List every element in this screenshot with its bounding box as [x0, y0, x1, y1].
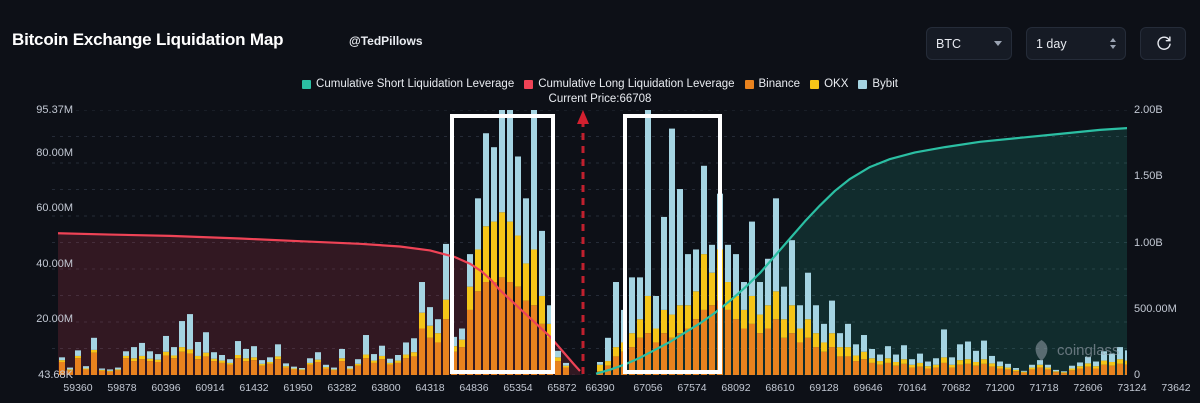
bar-segment-binance[interactable] [467, 310, 473, 375]
bar-segment-binance[interactable] [211, 361, 217, 375]
bar-segment-okx[interactable] [693, 291, 699, 319]
bar-segment-binance[interactable] [997, 368, 1003, 375]
bar-segment-okx[interactable] [845, 347, 851, 356]
bar-segment-bybit[interactable] [299, 368, 305, 369]
bar-segment-bybit[interactable] [893, 355, 899, 362]
bar-segment-bybit[interactable] [829, 301, 835, 334]
bar-segment-binance[interactable] [187, 354, 193, 375]
bar-segment-binance[interactable] [1029, 369, 1035, 375]
bar-segment-okx[interactable] [227, 363, 233, 365]
bar-segment-okx[interactable] [933, 365, 939, 368]
bar-segment-binance[interactable] [203, 356, 209, 375]
bar-segment-bybit[interactable] [99, 368, 105, 369]
bar-segment-bybit[interactable] [307, 358, 313, 363]
bar-segment-okx[interactable] [499, 212, 505, 277]
bar-segment-binance[interactable] [781, 338, 787, 375]
bar-segment-binance[interactable] [75, 358, 81, 375]
bar-segment-okx[interactable] [251, 357, 257, 360]
bar-segment-bybit[interactable] [211, 352, 217, 359]
bar-segment-binance[interactable] [909, 368, 915, 375]
bar-segment-okx[interactable] [781, 319, 787, 338]
bar-segment-okx[interactable] [733, 296, 739, 319]
bar-segment-bybit[interactable] [781, 287, 787, 320]
bar-segment-binance[interactable] [243, 361, 249, 375]
bar-segment-binance[interactable] [155, 362, 161, 375]
bar-segment-bybit[interactable] [443, 244, 449, 300]
bar-segment-okx[interactable] [187, 349, 193, 353]
bar-segment-bybit[interactable] [885, 346, 891, 358]
bar-segment-binance[interactable] [555, 361, 561, 375]
bar-segment-bybit[interactable] [949, 357, 955, 364]
bar-segment-bybit[interactable] [933, 358, 939, 365]
bar-segment-okx[interactable] [331, 369, 337, 370]
bar-segment-binance[interactable] [251, 360, 257, 375]
bar-segment-okx[interactable] [1029, 368, 1035, 370]
bar-segment-bybit[interactable] [187, 314, 193, 349]
bar-segment-bybit[interactable] [499, 110, 505, 212]
bar-segment-bybit[interactable] [749, 222, 755, 296]
bar-segment-binance[interactable] [299, 370, 305, 375]
bar-segment-okx[interactable] [507, 222, 513, 282]
bar-segment-okx[interactable] [179, 347, 185, 352]
bar-segment-binance[interactable] [797, 342, 803, 375]
bar-segment-bybit[interactable] [941, 329, 947, 357]
bar-segment-binance[interactable] [115, 370, 121, 375]
bar-segment-okx[interactable] [789, 305, 795, 333]
bar-segment-bybit[interactable] [845, 324, 851, 347]
bar-segment-bybit[interactable] [837, 333, 843, 347]
bar-segment-binance[interactable] [371, 363, 377, 375]
bar-segment-okx[interactable] [355, 364, 361, 366]
bar-segment-binance[interactable] [989, 367, 995, 375]
bar-segment-binance[interactable] [845, 356, 851, 375]
bar-segment-binance[interactable] [403, 358, 409, 375]
bar-segment-bybit[interactable] [725, 245, 731, 282]
legend-item[interactable]: Cumulative Long Liquidation Leverage [524, 78, 734, 90]
bar-segment-binance[interactable] [363, 358, 369, 375]
bar-segment-okx[interactable] [323, 367, 329, 368]
bar-segment-bybit[interactable] [877, 355, 883, 362]
bar-segment-okx[interactable] [981, 359, 987, 364]
bar-segment-bybit[interactable] [597, 362, 603, 365]
bar-segment-okx[interactable] [203, 353, 209, 357]
bar-segment-bybit[interactable] [773, 198, 779, 291]
bar-segment-bybit[interactable] [909, 359, 915, 365]
bar-segment-okx[interactable] [653, 329, 659, 343]
bar-segment-okx[interactable] [829, 333, 835, 347]
bar-segment-okx[interactable] [379, 356, 385, 359]
bar-segment-okx[interactable] [1069, 368, 1075, 370]
bar-segment-bybit[interactable] [1077, 362, 1083, 366]
bar-segment-bybit[interactable] [283, 363, 289, 366]
bar-segment-bybit[interactable] [789, 240, 795, 305]
bar-segment-bybit[interactable] [379, 346, 385, 356]
symbol-select[interactable]: BTC [926, 27, 1012, 60]
bar-segment-bybit[interactable] [259, 360, 265, 364]
bar-segment-bybit[interactable] [853, 344, 859, 355]
bar-segment-okx[interactable] [219, 361, 225, 363]
bar-segment-okx[interactable] [925, 366, 931, 368]
bar-segment-binance[interactable] [435, 342, 441, 375]
bar-segment-okx[interactable] [539, 296, 545, 324]
bar-segment-binance[interactable] [765, 329, 771, 375]
bar-segment-binance[interactable] [1053, 372, 1059, 375]
bar-segment-bybit[interactable] [869, 349, 875, 358]
bar-segment-binance[interactable] [107, 372, 113, 375]
bar-segment-binance[interactable] [195, 359, 201, 375]
bar-segment-okx[interactable] [243, 358, 249, 361]
bar-segment-bybit[interactable] [563, 363, 569, 366]
bar-segment-bybit[interactable] [219, 355, 225, 361]
bar-segment-bybit[interactable] [645, 110, 651, 296]
bar-segment-okx[interactable] [171, 355, 177, 358]
bar-segment-binance[interactable] [1085, 367, 1091, 375]
bar-segment-bybit[interactable] [653, 296, 659, 329]
bar-segment-bybit[interactable] [821, 324, 827, 343]
bar-segment-bybit[interactable] [139, 343, 145, 356]
bar-segment-binance[interactable] [757, 333, 763, 375]
bar-segment-okx[interactable] [259, 364, 265, 366]
bar-segment-okx[interactable] [139, 356, 145, 359]
bar-segment-bybit[interactable] [243, 349, 249, 358]
legend-item[interactable]: Cumulative Short Liquidation Leverage [302, 78, 514, 90]
bar-segment-binance[interactable] [821, 352, 827, 375]
bar-segment-bybit[interactable] [1005, 364, 1011, 368]
bar-segment-bybit[interactable] [515, 156, 521, 235]
bar-segment-binance[interactable] [139, 359, 145, 375]
bar-segment-okx[interactable] [283, 366, 289, 367]
bar-segment-binance[interactable] [411, 356, 417, 375]
bar-segment-bybit[interactable] [491, 147, 497, 221]
bar-segment-bybit[interactable] [1061, 371, 1067, 372]
bar-segment-bybit[interactable] [331, 368, 337, 370]
bar-segment-bybit[interactable] [1069, 366, 1075, 369]
bar-segment-bybit[interactable] [131, 347, 137, 358]
bar-segment-bybit[interactable] [733, 254, 739, 296]
bar-segment-binance[interactable] [355, 366, 361, 375]
bar-segment-okx[interactable] [909, 365, 915, 368]
bar-segment-binance[interactable] [443, 319, 449, 375]
bar-segment-okx[interactable] [949, 365, 955, 368]
bar-segment-binance[interactable] [91, 353, 97, 375]
bar-segment-binance[interactable] [171, 358, 177, 375]
bar-segment-binance[interactable] [1069, 370, 1075, 375]
bar-segment-okx[interactable] [235, 355, 241, 358]
bar-segment-okx[interactable] [1077, 366, 1083, 368]
bar-segment-bybit[interactable] [507, 110, 513, 222]
bar-segment-binance[interactable] [507, 282, 513, 375]
bar-segment-bybit[interactable] [629, 277, 635, 333]
bar-segment-okx[interactable] [515, 236, 521, 287]
bar-segment-binance[interactable] [949, 368, 955, 375]
bar-segment-okx[interactable] [877, 361, 883, 365]
bar-segment-bybit[interactable] [195, 342, 201, 356]
bar-segment-binance[interactable] [275, 359, 281, 375]
bar-segment-okx[interactable] [435, 333, 441, 342]
bar-segment-okx[interactable] [613, 347, 619, 356]
bar-segment-okx[interactable] [645, 296, 651, 333]
bar-segment-bybit[interactable] [523, 198, 529, 263]
bar-segment-bybit[interactable] [693, 249, 699, 291]
bar-segment-binance[interactable] [219, 363, 225, 375]
bar-segment-okx[interactable] [563, 366, 569, 368]
bar-segment-bybit[interactable] [155, 354, 161, 360]
bar-segment-okx[interactable] [347, 368, 353, 369]
bar-segment-okx[interactable] [75, 356, 81, 358]
bar-segment-binance[interactable] [1005, 369, 1011, 375]
bar-segment-bybit[interactable] [403, 342, 409, 354]
legend-item[interactable]: Binance [745, 78, 801, 90]
bar-segment-bybit[interactable] [1021, 371, 1027, 372]
bar-segment-okx[interactable] [821, 342, 827, 351]
bar-segment-binance[interactable] [917, 367, 923, 375]
bar-segment-bybit[interactable] [1013, 368, 1019, 370]
bar-segment-binance[interactable] [981, 364, 987, 375]
bar-segment-binance[interactable] [379, 359, 385, 375]
bar-segment-okx[interactable] [941, 357, 947, 363]
bar-segment-okx[interactable] [115, 369, 121, 370]
bar-segment-okx[interactable] [805, 319, 811, 338]
bar-segment-binance[interactable] [419, 329, 425, 375]
bar-segment-binance[interactable] [123, 358, 129, 375]
bar-segment-bybit[interactable] [539, 231, 545, 296]
bar-segment-bybit[interactable] [275, 344, 281, 356]
bar-segment-bybit[interactable] [411, 338, 417, 352]
bar-segment-binance[interactable] [901, 364, 907, 375]
bar-segment-okx[interactable] [443, 300, 449, 320]
bar-segment-bybit[interactable] [1125, 350, 1127, 360]
bar-segment-binance[interactable] [1021, 373, 1027, 375]
bar-segment-okx[interactable] [709, 273, 715, 306]
bar-segment-okx[interactable] [853, 355, 859, 361]
bar-segment-bybit[interactable] [1029, 365, 1035, 368]
bar-segment-bybit[interactable] [475, 198, 481, 249]
bar-segment-okx[interactable] [307, 363, 313, 365]
bar-segment-binance[interactable] [941, 363, 947, 375]
bar-segment-binance[interactable] [427, 338, 433, 375]
bar-segment-okx[interactable] [131, 358, 137, 361]
bar-segment-binance[interactable] [395, 363, 401, 375]
bar-segment-okx[interactable] [1013, 370, 1019, 371]
bar-segment-bybit[interactable] [677, 189, 683, 305]
bar-segment-binance[interactable] [515, 287, 521, 375]
bar-segment-okx[interactable] [59, 360, 65, 362]
bar-segment-bybit[interactable] [363, 335, 369, 355]
bar-segment-binance[interactable] [147, 361, 153, 375]
bar-segment-bybit[interactable] [107, 369, 113, 370]
bar-segment-okx[interactable] [1085, 363, 1091, 366]
bar-segment-bybit[interactable] [123, 351, 129, 356]
bar-segment-binance[interactable] [773, 319, 779, 375]
bar-segment-binance[interactable] [227, 365, 233, 375]
bar-segment-bybit[interactable] [957, 344, 963, 360]
bar-segment-binance[interactable] [677, 333, 683, 375]
bar-segment-bybit[interactable] [395, 355, 401, 361]
bar-segment-bybit[interactable] [917, 354, 923, 363]
bar-segment-bybit[interactable] [315, 352, 321, 359]
bar-segment-binance[interactable] [491, 282, 497, 375]
bar-segment-bybit[interactable] [669, 129, 675, 315]
bar-segment-okx[interactable] [637, 319, 643, 338]
bar-segment-okx[interactable] [1061, 372, 1067, 373]
bar-segment-binance[interactable] [853, 361, 859, 375]
bar-segment-binance[interactable] [789, 333, 795, 375]
bar-segment-okx[interactable] [291, 368, 297, 369]
bar-segment-binance[interactable] [749, 324, 755, 375]
bar-segment-binance[interactable] [661, 333, 667, 375]
bar-segment-bybit[interactable] [685, 254, 691, 305]
bar-segment-okx[interactable] [523, 263, 529, 300]
bar-segment-binance[interactable] [83, 369, 89, 375]
interval-stepper[interactable]: 1 day [1026, 27, 1126, 60]
bar-segment-okx[interactable] [459, 340, 465, 347]
bar-segment-binance[interactable] [291, 369, 297, 375]
bar-segment-bybit[interactable] [267, 357, 273, 362]
bar-segment-binance[interactable] [531, 305, 537, 375]
bar-segment-bybit[interactable] [91, 338, 97, 350]
bar-segment-binance[interactable] [323, 368, 329, 375]
bar-segment-okx[interactable] [773, 291, 779, 319]
bar-segment-bybit[interactable] [355, 359, 361, 364]
bar-segment-binance[interactable] [861, 359, 867, 375]
bar-segment-bybit[interactable] [59, 357, 65, 360]
bar-segment-binance[interactable] [307, 365, 313, 375]
bar-segment-okx[interactable] [1045, 368, 1051, 370]
bar-segment-okx[interactable] [669, 315, 675, 338]
bar-segment-bybit[interactable] [973, 351, 979, 362]
bar-segment-okx[interactable] [363, 355, 369, 359]
bar-segment-okx[interactable] [1037, 365, 1043, 368]
bar-segment-binance[interactable] [1013, 371, 1019, 375]
bar-segment-binance[interactable] [957, 365, 963, 375]
bar-segment-okx[interactable] [757, 315, 763, 334]
bar-segment-binance[interactable] [741, 329, 747, 375]
bar-segment-bybit[interactable] [83, 366, 89, 368]
bar-segment-bybit[interactable] [387, 359, 393, 363]
bar-segment-binance[interactable] [725, 310, 731, 375]
bar-segment-bybit[interactable] [925, 362, 931, 367]
bar-segment-okx[interactable] [749, 296, 755, 324]
bar-segment-binance[interactable] [1077, 368, 1083, 375]
bar-segment-bybit[interactable] [901, 345, 907, 359]
bar-segment-bybit[interactable] [419, 282, 425, 313]
bar-segment-binance[interactable] [331, 370, 337, 375]
bar-segment-bybit[interactable] [1053, 370, 1059, 371]
bar-segment-binance[interactable] [1117, 364, 1123, 375]
bar-segment-okx[interactable] [917, 363, 923, 367]
stepper-arrows-icon[interactable] [1110, 38, 1116, 49]
bar-segment-bybit[interactable] [483, 133, 489, 226]
bar-segment-okx[interactable] [837, 347, 843, 356]
bar-segment-bybit[interactable] [989, 356, 995, 363]
bar-segment-okx[interactable] [339, 358, 345, 361]
bar-segment-okx[interactable] [123, 356, 129, 358]
bar-segment-bybit[interactable] [203, 332, 209, 352]
bar-segment-bybit[interactable] [805, 273, 811, 319]
bar-segment-bybit[interactable] [701, 166, 707, 254]
bar-segment-okx[interactable] [395, 361, 401, 363]
bar-segment-okx[interactable] [885, 358, 891, 363]
bar-segment-okx[interactable] [901, 359, 907, 364]
bar-segment-okx[interactable] [741, 310, 747, 329]
bar-segment-okx[interactable] [629, 333, 635, 347]
bar-segment-bybit[interactable] [115, 368, 121, 370]
bar-segment-binance[interactable] [387, 365, 393, 375]
bar-segment-bybit[interactable] [459, 329, 465, 340]
bar-segment-okx[interactable] [1053, 371, 1059, 372]
bar-segment-okx[interactable] [99, 370, 105, 371]
bar-segment-binance[interactable] [1037, 368, 1043, 375]
bar-segment-bybit[interactable] [981, 341, 987, 360]
bar-segment-binance[interactable] [685, 329, 691, 375]
bar-segment-okx[interactable] [1005, 368, 1011, 370]
bar-segment-okx[interactable] [83, 368, 89, 369]
bar-segment-bybit[interactable] [605, 338, 611, 361]
bar-segment-binance[interactable] [283, 368, 289, 375]
bar-segment-okx[interactable] [1101, 361, 1107, 365]
bar-segment-okx[interactable] [419, 313, 425, 329]
bar-segment-bybit[interactable] [291, 367, 297, 369]
bar-segment-bybit[interactable] [339, 349, 345, 358]
bar-segment-binance[interactable] [483, 282, 489, 375]
bar-segment-binance[interactable] [893, 366, 899, 375]
bar-segment-binance[interactable] [163, 355, 169, 375]
legend-item[interactable]: OKX [810, 78, 848, 90]
bar-segment-okx[interactable] [989, 363, 995, 366]
bar-segment-bybit[interactable] [637, 277, 643, 319]
bar-segment-okx[interactable] [91, 350, 97, 353]
bar-segment-okx[interactable] [531, 249, 537, 305]
bar-segment-binance[interactable] [1109, 366, 1115, 375]
bar-segment-okx[interactable] [965, 359, 971, 364]
bar-segment-binance[interactable] [475, 291, 481, 375]
bar-segment-okx[interactable] [147, 359, 153, 361]
bar-segment-binance[interactable] [869, 363, 875, 375]
bar-segment-okx[interactable] [267, 362, 273, 364]
bar-segment-okx[interactable] [677, 305, 683, 333]
bar-segment-binance[interactable] [965, 364, 971, 375]
bar-segment-bybit[interactable] [251, 346, 257, 357]
bar-segment-bybit[interactable] [435, 319, 441, 333]
bar-segment-okx[interactable] [299, 369, 305, 370]
bar-segment-bybit[interactable] [997, 362, 1003, 367]
bar-segment-binance[interactable] [1125, 365, 1127, 375]
bar-segment-okx[interactable] [163, 352, 169, 356]
bar-segment-okx[interactable] [605, 361, 611, 366]
bar-segment-binance[interactable] [669, 338, 675, 375]
bar-segment-okx[interactable] [195, 356, 201, 359]
bar-segment-bybit[interactable] [1093, 362, 1099, 367]
bar-segment-bybit[interactable] [531, 110, 537, 249]
bar-segment-binance[interactable] [315, 362, 321, 375]
bar-segment-bybit[interactable] [555, 351, 561, 358]
bar-segment-bybit[interactable] [179, 321, 185, 347]
bar-segment-bybit[interactable] [613, 282, 619, 347]
bar-segment-bybit[interactable] [323, 365, 329, 367]
bar-segment-bybit[interactable] [371, 354, 377, 361]
bar-segment-binance[interactable] [877, 365, 883, 375]
bar-segment-okx[interactable] [861, 352, 867, 359]
bar-segment-binance[interactable] [235, 358, 241, 375]
bar-segment-okx[interactable] [275, 356, 281, 359]
bar-segment-okx[interactable] [427, 326, 433, 338]
bar-segment-okx[interactable] [725, 282, 731, 310]
bar-segment-bybit[interactable] [965, 342, 971, 360]
bar-segment-okx[interactable] [765, 305, 771, 328]
bar-segment-binance[interactable] [1093, 368, 1099, 375]
bar-segment-bybit[interactable] [467, 254, 473, 287]
bar-segment-bybit[interactable] [1045, 365, 1051, 368]
